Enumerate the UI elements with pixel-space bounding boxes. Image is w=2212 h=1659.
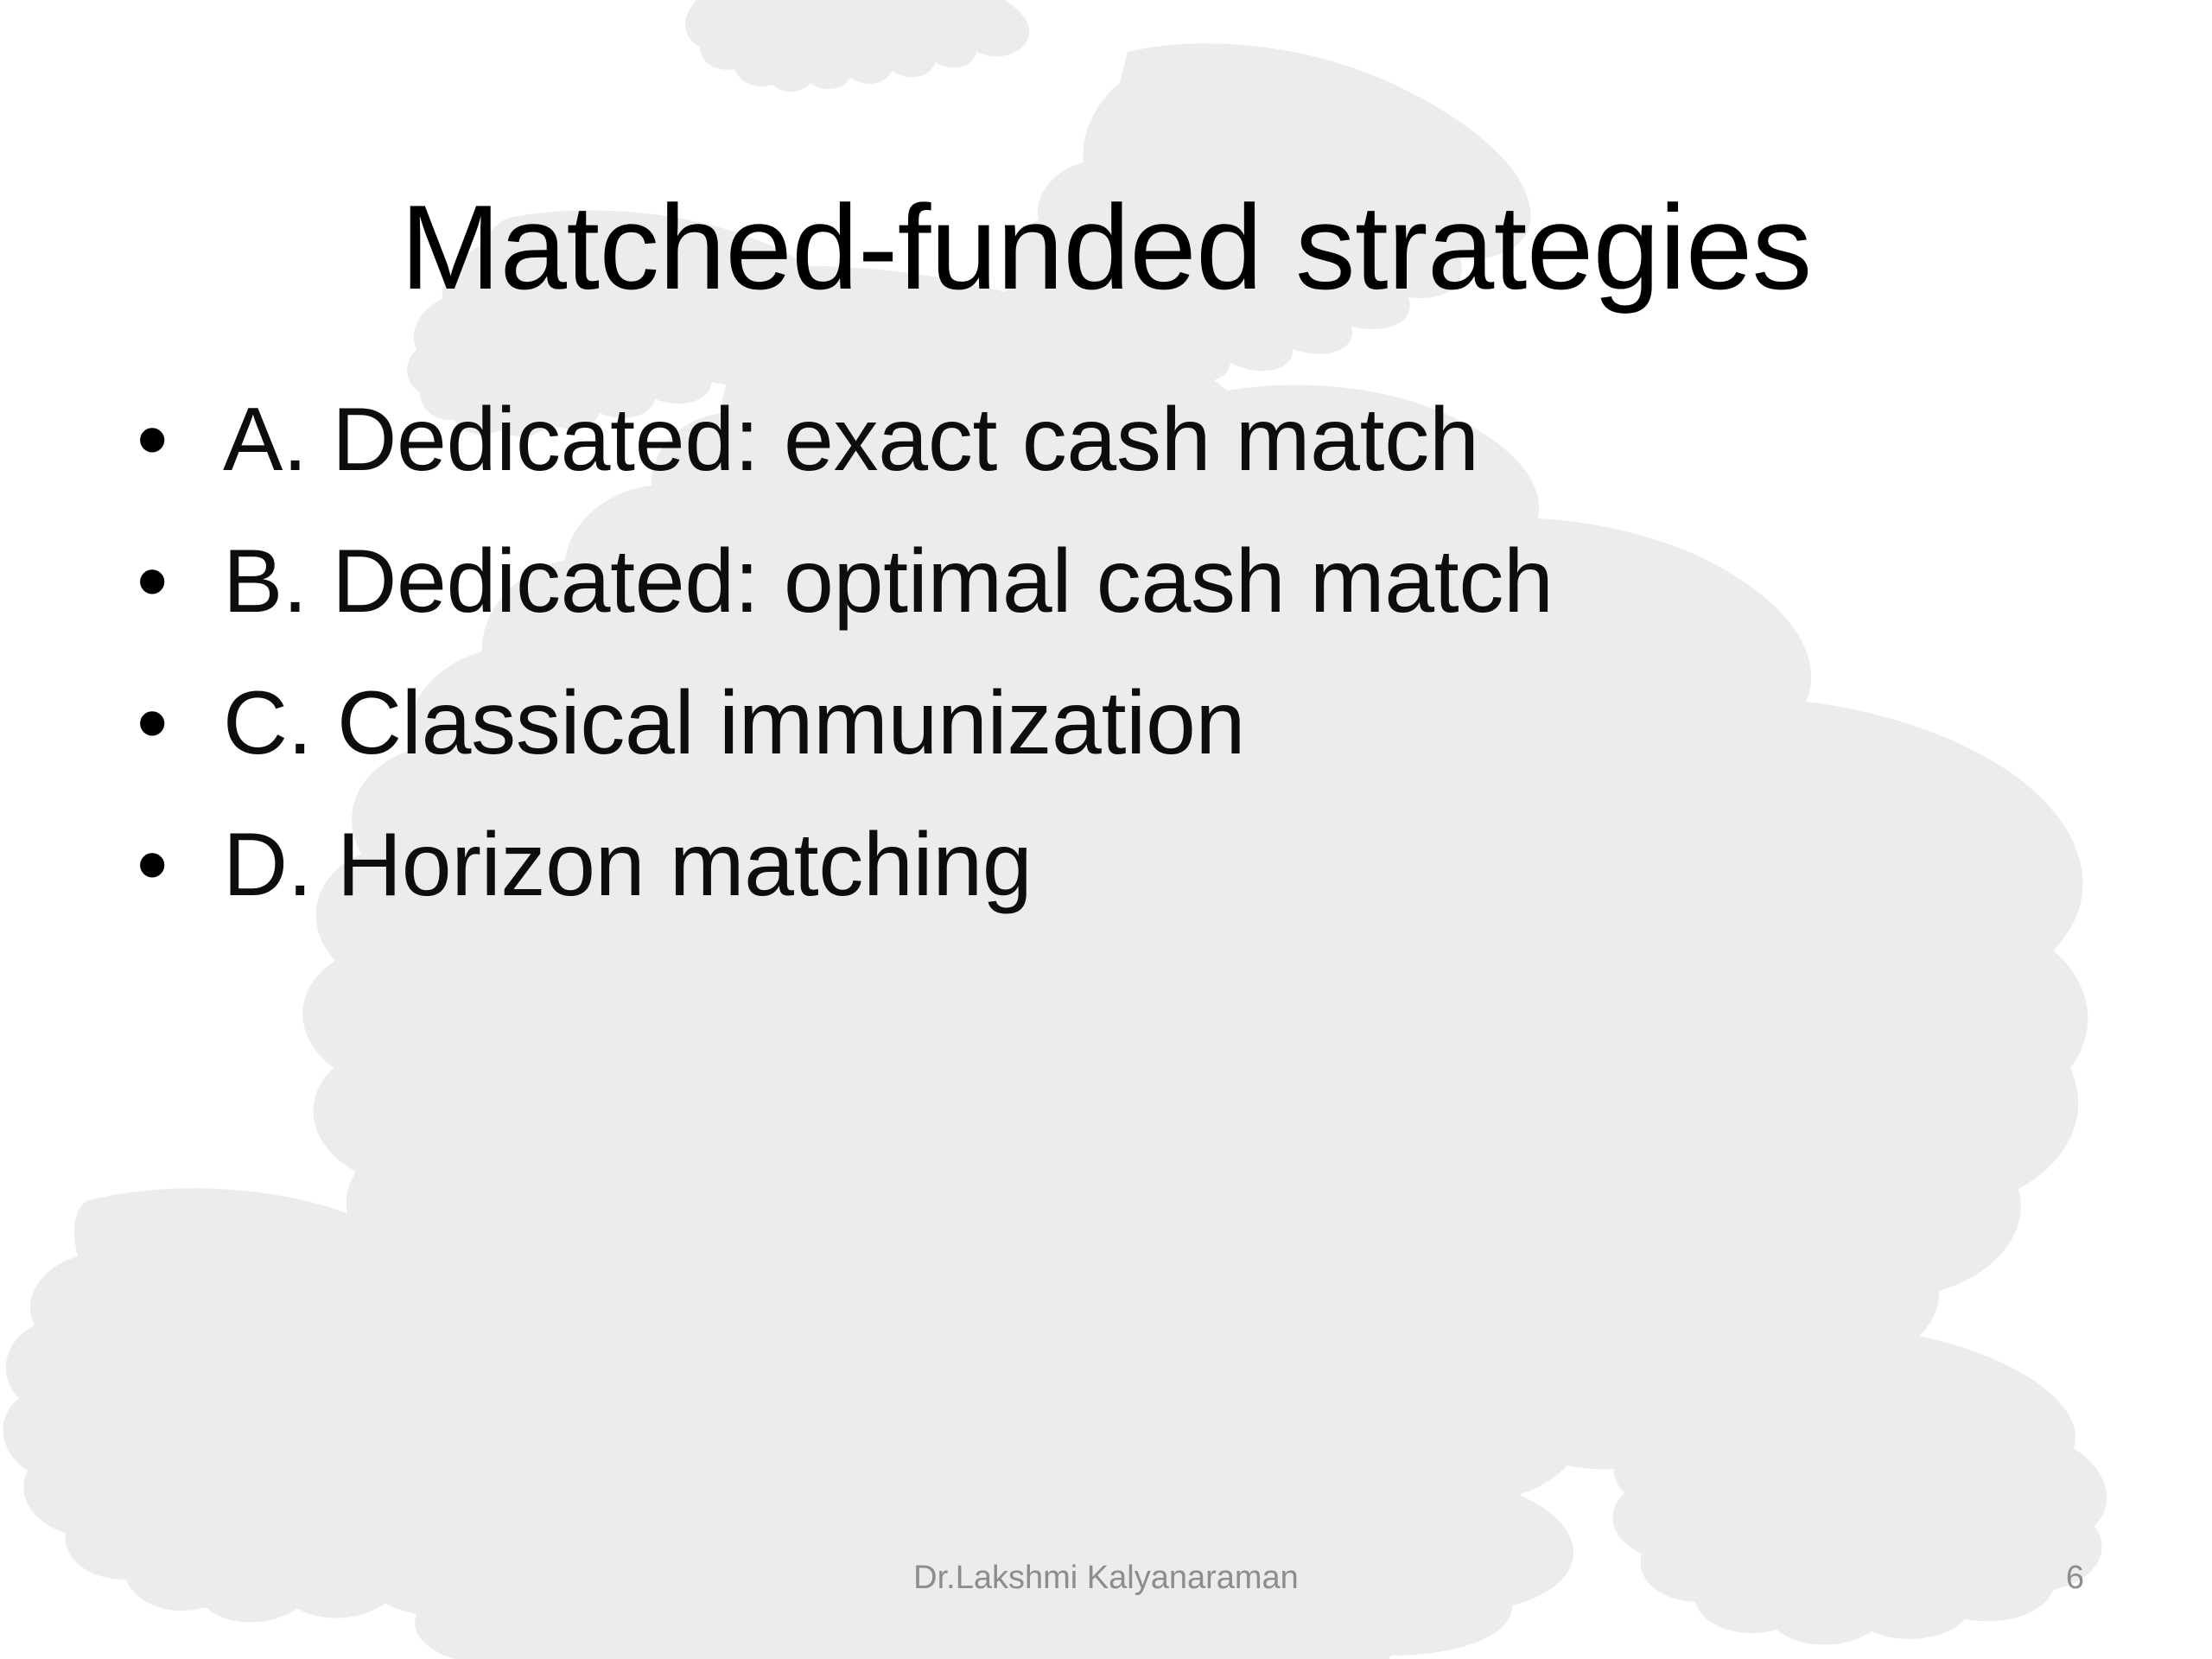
bullet-point-icon: • [121, 393, 223, 486]
list-item: • A. Dedicated: exact cash match [121, 393, 2022, 535]
slide-page-number: 6 [2066, 1557, 2084, 1599]
bullet-text-b: B. Dedicated: optimal cash match [223, 535, 2022, 628]
bullet-point-icon: • [121, 535, 223, 628]
list-item: • D. Horizon matching [121, 818, 2022, 960]
bullet-point-icon: • [121, 818, 223, 912]
list-item: • C. Classical immunization [121, 677, 2022, 818]
page-title: Matched-funded strategies [400, 182, 1811, 315]
footer-author-text: Dr.Lakshmi Kalyanaraman [0, 1557, 2212, 1599]
title-placeholder: Matched-funded strategies [0, 102, 2212, 395]
bullet-text-d: D. Horizon matching [223, 818, 2022, 912]
list-item: • B. Dedicated: optimal cash match [121, 535, 2022, 677]
content-bullet-list: • A. Dedicated: exact cash match • B. De… [121, 393, 2022, 960]
bullet-text-a: A. Dedicated: exact cash match [223, 393, 2022, 486]
bullet-text-c: C. Classical immunization [223, 677, 2022, 770]
slide-canvas: Matched-funded strategies • A. Dedicated… [0, 0, 2212, 1659]
bullet-point-icon: • [121, 677, 223, 770]
